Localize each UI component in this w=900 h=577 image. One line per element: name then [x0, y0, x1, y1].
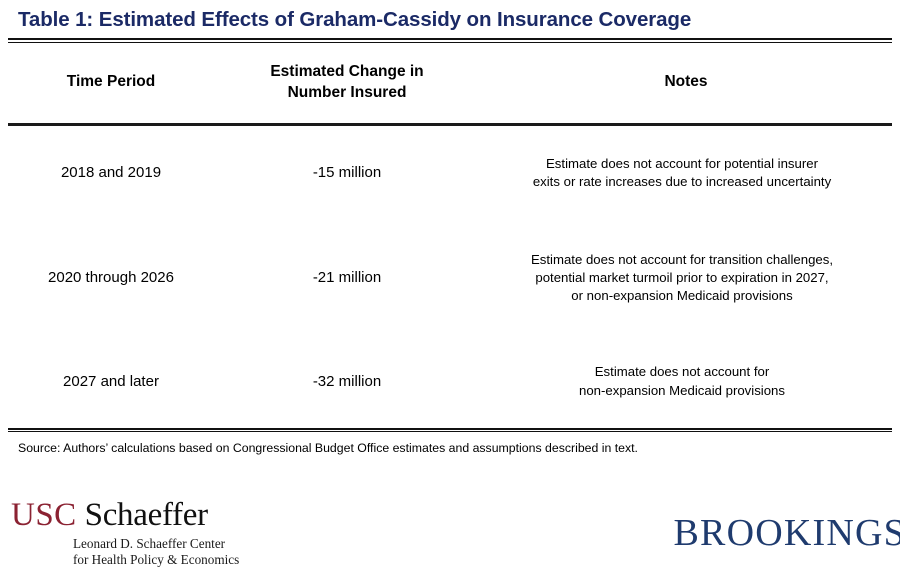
cell-notes-line: Estimate does not account for	[476, 363, 888, 381]
usc-schaeffer-logo: USC Schaeffer Leonard D. Schaeffer Cente…	[11, 499, 239, 568]
cell-notes-line: or non-expansion Medicaid provisions	[476, 287, 888, 305]
estimates-table: Time Period Estimated Change in Number I…	[0, 43, 900, 123]
cell-estimated-change: -32 million	[222, 336, 472, 428]
cell-time-period: 2018 and 2019	[0, 126, 222, 221]
source-block: Source: Authors’ calculations based on C…	[0, 432, 900, 457]
cell-notes-line: potential market turmoil prior to expira…	[476, 269, 888, 287]
usc-subtitle-line1: Leonard D. Schaeffer Center	[73, 536, 239, 552]
cell-notes: Estimate does not account for non-expans…	[472, 336, 900, 428]
source-note: Source: Authors’ calculations based on C…	[18, 441, 886, 457]
usc-subtitle-line2: for Health Policy & Economics	[73, 552, 239, 568]
column-header-time-period: Time Period	[0, 43, 222, 123]
cell-notes: Estimate does not account for potential …	[472, 126, 900, 221]
table-row: 2020 through 2026 -21 million Estimate d…	[0, 221, 900, 336]
table-header-row: Time Period Estimated Change in Number I…	[0, 43, 900, 123]
estimates-table-body: 2018 and 2019 -15 million Estimate does …	[0, 126, 900, 428]
table-figure: Table 1: Estimated Effects of Graham-Cas…	[0, 0, 900, 577]
cell-estimated-change: -21 million	[222, 221, 472, 336]
cell-notes-line: Estimate does not account for transition…	[476, 251, 888, 269]
cell-time-period: 2020 through 2026	[0, 221, 222, 336]
table-row: 2027 and later -32 million Estimate does…	[0, 336, 900, 428]
column-header-estimated-change: Estimated Change in Number Insured	[222, 43, 472, 123]
schaeffer-word: Schaeffer	[77, 497, 208, 533]
usc-subtitle: Leonard D. Schaeffer Center for Health P…	[73, 536, 239, 568]
footer-logos: USC Schaeffer Leonard D. Schaeffer Cente…	[0, 499, 900, 577]
table-row: 2018 and 2019 -15 million Estimate does …	[0, 126, 900, 221]
cell-time-period: 2027 and later	[0, 336, 222, 428]
brookings-logo: BROOKINGS	[674, 514, 900, 552]
title-block: Table 1: Estimated Effects of Graham-Cas…	[0, 0, 900, 38]
cell-notes: Estimate does not account for transition…	[472, 221, 900, 336]
column-header-estimated-change-line1: Estimated Change in	[222, 62, 472, 82]
cell-notes-line: Estimate does not account for potential …	[476, 155, 888, 173]
column-header-estimated-change-line2: Number Insured	[222, 83, 472, 103]
cell-estimated-change: -15 million	[222, 126, 472, 221]
page-title: Table 1: Estimated Effects of Graham-Cas…	[18, 9, 886, 32]
usc-wordmark: USC Schaeffer	[11, 499, 239, 532]
cell-notes-line: non-expansion Medicaid provisions	[476, 382, 888, 400]
column-header-notes: Notes	[472, 43, 900, 123]
usc-letters: USC	[11, 497, 77, 533]
cell-notes-line: exits or rate increases due to increased…	[476, 173, 888, 191]
